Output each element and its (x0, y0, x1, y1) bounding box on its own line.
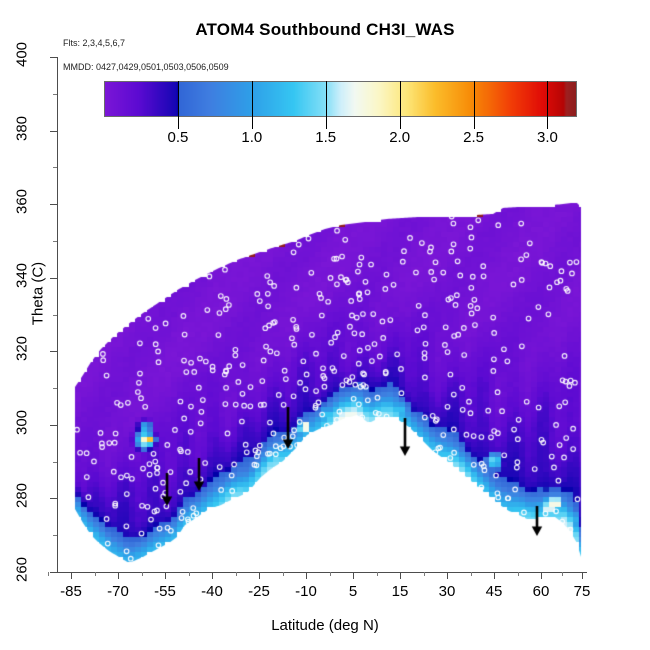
x-axis-minor-tick (518, 572, 519, 576)
y-axis-tick (50, 351, 57, 352)
y-axis-tick-label: 400 (14, 32, 31, 78)
x-axis-tick-label: 75 (574, 583, 591, 600)
x-axis-minor-tick (48, 572, 49, 576)
y-axis-tick (50, 498, 57, 499)
flights-annotation: Flts: 2,3,4,5,6,7 (63, 38, 125, 48)
x-axis-minor-tick (283, 572, 284, 576)
x-axis-minor-tick (236, 572, 237, 576)
x-axis-tick (447, 572, 448, 579)
x-axis-tick (494, 572, 495, 579)
y-axis-tick (50, 204, 57, 205)
y-axis-tick-label: 380 (14, 105, 31, 151)
x-axis-tick-label: -70 (107, 583, 129, 600)
x-axis-tick-label: 5 (349, 583, 357, 600)
y-axis-label: Theta (C) (30, 234, 47, 354)
x-axis-label: Latitude (deg N) (0, 617, 650, 634)
y-axis-tick-label: 360 (14, 179, 31, 225)
y-axis-tick-label: 320 (14, 326, 31, 372)
y-axis-tick (50, 57, 57, 58)
x-axis-tick (165, 572, 166, 579)
y-axis-tick-label: 280 (14, 473, 31, 519)
x-axis-tick-label: 30 (439, 583, 456, 600)
x-axis-tick-label: -85 (60, 583, 82, 600)
x-axis-tick-label: 45 (486, 583, 503, 600)
y-axis-tick-label: 340 (14, 252, 31, 298)
x-axis-minor-tick (424, 572, 425, 576)
x-axis-tick (400, 572, 401, 579)
y-axis-tick-label: 260 (14, 547, 31, 593)
x-axis-tick-label: -10 (295, 583, 317, 600)
y-axis-tick (50, 425, 57, 426)
x-axis-tick-label: -25 (248, 583, 270, 600)
heatmap-plot-area (57, 57, 587, 572)
x-axis-tick (118, 572, 119, 579)
x-axis-minor-tick (377, 572, 378, 576)
x-axis-tick-label: 60 (533, 583, 550, 600)
x-axis-tick (353, 572, 354, 579)
x-axis-tick-label: -40 (201, 583, 223, 600)
y-axis-tick-label: 300 (14, 399, 31, 445)
x-axis-minor-tick (471, 572, 472, 576)
y-axis-tick (50, 572, 57, 573)
x-axis-minor-tick (330, 572, 331, 576)
page-title: ATOM4 Southbound CH3I_WAS (0, 20, 650, 40)
y-axis-tick (50, 278, 57, 279)
y-axis-tick (50, 131, 57, 132)
x-axis-tick (212, 572, 213, 579)
x-axis-minor-tick (95, 572, 96, 576)
x-axis-minor-tick (142, 572, 143, 576)
x-axis-tick (71, 572, 72, 579)
x-axis-line (57, 572, 587, 573)
x-axis-tick (582, 572, 583, 579)
x-axis-tick (259, 572, 260, 579)
x-axis-tick-label: -55 (154, 583, 176, 600)
x-axis-minor-tick (189, 572, 190, 576)
x-axis-minor-tick (562, 572, 563, 576)
x-axis-tick-label: 15 (392, 583, 409, 600)
figure-root: ATOM4 Southbound CH3I_WAS Flts: 2,3,4,5,… (0, 0, 650, 650)
x-axis-tick (541, 572, 542, 579)
x-axis-tick (306, 572, 307, 579)
